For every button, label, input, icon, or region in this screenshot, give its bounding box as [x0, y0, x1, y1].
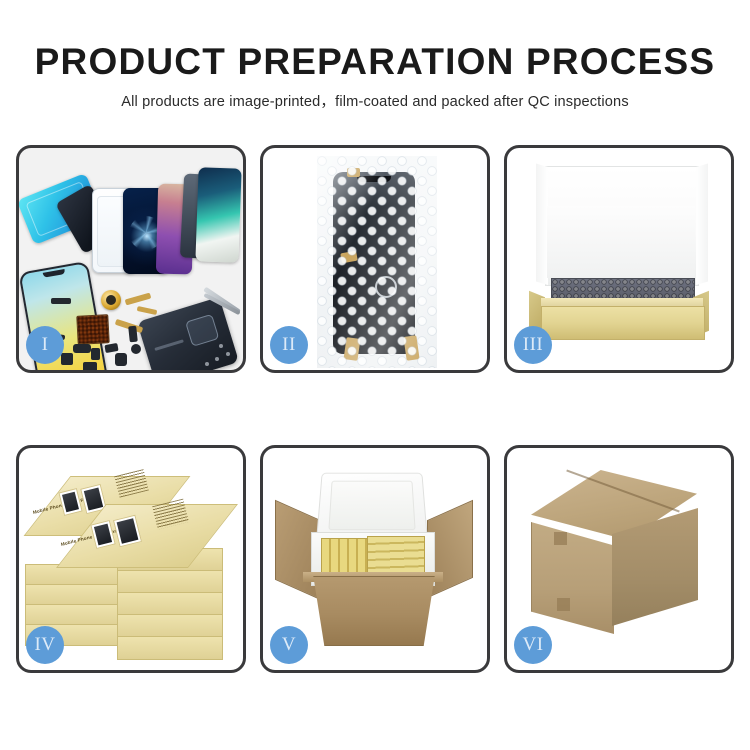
speaker-coil-part — [101, 290, 121, 310]
stacked-box-edge — [25, 604, 119, 626]
stacked-box-edge — [117, 592, 223, 616]
page-title: PRODUCT PREPARATION PROCESS — [0, 0, 750, 81]
step-badge-1: I — [26, 326, 64, 364]
carton-left-face — [531, 522, 614, 634]
component-chip — [104, 343, 118, 353]
stacked-box-edge — [117, 614, 223, 638]
process-step-panel-5: V — [260, 445, 490, 673]
foam-case-lid — [316, 473, 428, 541]
logic-board-part — [76, 314, 109, 345]
step-badge-4: IV — [26, 626, 64, 664]
white-foam-sheet — [547, 206, 695, 278]
carton-body — [305, 576, 443, 646]
component-chip — [131, 344, 141, 354]
component-chip — [51, 298, 71, 304]
component-chip — [73, 344, 91, 353]
header: PRODUCT PREPARATION PROCESS All products… — [0, 0, 750, 111]
screw-part — [226, 352, 230, 356]
bubble-wrap-sleeve — [317, 156, 437, 368]
stacked-box-edge — [117, 570, 223, 594]
carton-tape-patch — [557, 598, 570, 611]
process-step-panel-1: I — [16, 145, 246, 373]
carton-tape-patch — [554, 532, 567, 545]
step-badge-5: V — [270, 626, 308, 664]
box-front-panel — [541, 306, 705, 340]
screw-part — [205, 362, 209, 366]
stacked-box-edge — [117, 636, 223, 660]
process-step-panel-6: VI — [504, 445, 734, 673]
screw-part — [215, 357, 219, 361]
page-subtitle: All products are image-printed，film-coat… — [0, 81, 750, 111]
back-housing-part — [137, 297, 239, 370]
component-chip — [83, 362, 97, 370]
component-chip — [115, 353, 127, 366]
screw-part — [219, 344, 223, 348]
component-chip — [91, 348, 100, 360]
flex-cable-part — [125, 293, 152, 306]
step-badge-3: III — [514, 326, 552, 364]
process-step-panel-2: II — [260, 145, 490, 373]
component-chip — [128, 326, 138, 343]
step-badge-2: II — [270, 326, 308, 364]
component-chip — [61, 353, 73, 365]
process-step-panel-4: Mobile Phone Spare Parts Mobile Phone Sp… — [16, 445, 246, 673]
step-badge-6: VI — [514, 626, 552, 664]
flex-cable-part — [137, 306, 158, 315]
stacked-box-edge — [25, 584, 119, 606]
process-panel-grid: I II I — [16, 145, 735, 673]
process-step-panel-3: III — [504, 145, 734, 373]
teal-phone-part — [195, 167, 241, 262]
plastic-sheen — [317, 156, 437, 368]
